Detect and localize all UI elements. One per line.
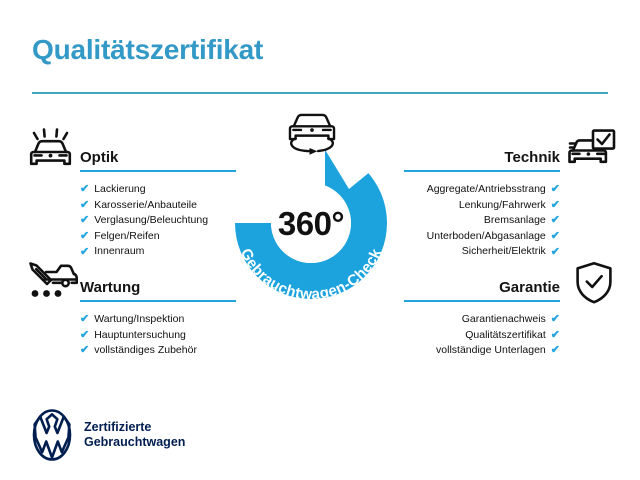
badge-degrees: 360° — [221, 205, 401, 243]
car-shine-icon — [27, 128, 75, 172]
list-item: ✔Lackierung — [80, 182, 208, 198]
car-rotate-360-icon — [281, 109, 343, 159]
list-item-label: Karosserie/Anbauteile — [94, 198, 197, 214]
list-item-label: Qualitätszertifikat — [465, 328, 546, 344]
check-icon: ✔ — [80, 231, 89, 242]
list-item-label: vollständiges Zubehör — [94, 343, 197, 359]
section-optik-title: Optik — [80, 149, 118, 166]
list-item-label: Unterboden/Abgasanlage — [427, 229, 546, 245]
check-icon: ✔ — [80, 247, 89, 258]
car-emblem-dot — [49, 154, 53, 158]
section-technik-title: Technik — [504, 149, 560, 166]
list-item: ✔Karosserie/Anbauteile — [80, 198, 208, 214]
check-icon: ✔ — [80, 314, 89, 325]
list-item: Garantienachweis✔ — [404, 312, 560, 328]
list-item-label: Lackierung — [94, 182, 145, 198]
check-icon: ✔ — [551, 247, 560, 258]
list-item-label: Bremsanlage — [484, 213, 546, 229]
section-garantie-header: Garantie — [404, 270, 560, 300]
section-wartung: Wartung ✔Wartung/Inspektion ✔Hauptunters… — [80, 270, 240, 300]
list-item: Aggregate/Antriebsstrang✔ — [404, 182, 560, 198]
section-optik-list: ✔Lackierung ✔Karosserie/Anbauteile ✔Verg… — [80, 182, 208, 260]
list-item: Bremsanlage✔ — [404, 213, 560, 229]
section-technik-header: Technik — [404, 140, 560, 170]
list-item-label: Aggregate/Antriebsstrang — [427, 182, 546, 198]
list-item: ✔Verglasung/Beleuchtung — [80, 213, 208, 229]
rotation-arrow-head — [310, 148, 318, 155]
footer-line-2: Gebrauchtwagen — [84, 435, 185, 451]
service-dot — [43, 290, 50, 297]
title-divider — [32, 92, 608, 94]
check-icon: ✔ — [80, 330, 89, 341]
list-item: ✔Felgen/Reifen — [80, 229, 208, 245]
section-garantie-title: Garantie — [499, 279, 560, 296]
check-icon: ✔ — [551, 231, 560, 242]
section-garantie: Garantie Garantienachweis✔ Qualitätszert… — [404, 270, 560, 300]
list-item: Unterboden/Abgasanlage✔ — [404, 229, 560, 245]
list-item: ✔Innenraum — [80, 244, 208, 260]
check-icon: ✔ — [551, 345, 560, 356]
service-dot — [55, 290, 62, 297]
list-item-label: Hauptuntersuchung — [94, 328, 186, 344]
shield-check-icon — [574, 261, 614, 305]
check-icon: ✔ — [551, 200, 560, 211]
list-item-label: Garantienachweis — [462, 312, 546, 328]
page-title: Qualitätszertifikat — [32, 34, 263, 66]
certificate-page: Qualitätszertifikat Optik ✔Lackierung ✔K… — [0, 0, 640, 480]
section-garantie-divider — [404, 300, 560, 302]
section-wartung-divider — [80, 300, 236, 302]
list-item-label: Verglasung/Beleuchtung — [94, 213, 208, 229]
section-wartung-title: Wartung — [80, 279, 140, 296]
check-icon: ✔ — [80, 184, 89, 195]
check-icon: ✔ — [551, 314, 560, 325]
car-checkbox-icon — [567, 129, 617, 171]
list-item: ✔Hauptuntersuchung — [80, 328, 197, 344]
list-item: Lenkung/Fahrwerk✔ — [404, 198, 560, 214]
car-service-tool-icon — [27, 260, 79, 306]
section-wartung-list: ✔Wartung/Inspektion ✔Hauptuntersuchung ✔… — [80, 312, 197, 359]
check-icon: ✔ — [551, 330, 560, 341]
list-item: Qualitätszertifikat✔ — [404, 328, 560, 344]
list-item: vollständige Unterlagen✔ — [404, 343, 560, 359]
check-icon: ✔ — [80, 215, 89, 226]
check-icon: ✔ — [551, 184, 560, 195]
section-optik-header: Optik — [80, 140, 240, 170]
list-item-label: vollständige Unterlagen — [436, 343, 546, 359]
car-emblem-dot — [310, 128, 314, 132]
car-emblem-dot — [587, 152, 591, 156]
list-item: ✔vollständiges Zubehör — [80, 343, 197, 359]
badge-360-check: Gebrauchtwagen-Check 360° — [221, 143, 401, 303]
footer-brand-text: Zertifizierte Gebrauchtwagen — [84, 420, 185, 451]
service-dot — [32, 290, 39, 297]
check-icon: ✔ — [80, 200, 89, 211]
list-item: Sicherheit/Elektrik✔ — [404, 244, 560, 260]
footer-line-1: Zertifizierte — [84, 420, 185, 436]
section-technik: Technik Aggregate/Antriebsstrang✔ Lenkun… — [404, 140, 560, 170]
list-item-label: Lenkung/Fahrwerk — [459, 198, 546, 214]
section-garantie-list: Garantienachweis✔ Qualitätszertifikat✔ v… — [404, 312, 560, 359]
list-item-label: Sicherheit/Elektrik — [462, 244, 546, 260]
footer-brand: Zertifizierte Gebrauchtwagen — [32, 408, 185, 462]
section-optik-divider — [80, 170, 236, 172]
list-item-label: Felgen/Reifen — [94, 229, 159, 245]
list-item-label: Wartung/Inspektion — [94, 312, 184, 328]
section-wartung-header: Wartung — [80, 270, 240, 300]
section-technik-list: Aggregate/Antriebsstrang✔ Lenkung/Fahrwe… — [404, 182, 560, 260]
check-icon: ✔ — [80, 345, 89, 356]
section-optik: Optik ✔Lackierung ✔Karosserie/Anbauteile… — [80, 140, 240, 170]
check-icon: ✔ — [551, 215, 560, 226]
vw-logo-icon — [32, 408, 72, 462]
list-item: ✔Wartung/Inspektion — [80, 312, 197, 328]
section-technik-divider — [404, 170, 560, 172]
list-item-label: Innenraum — [94, 244, 144, 260]
